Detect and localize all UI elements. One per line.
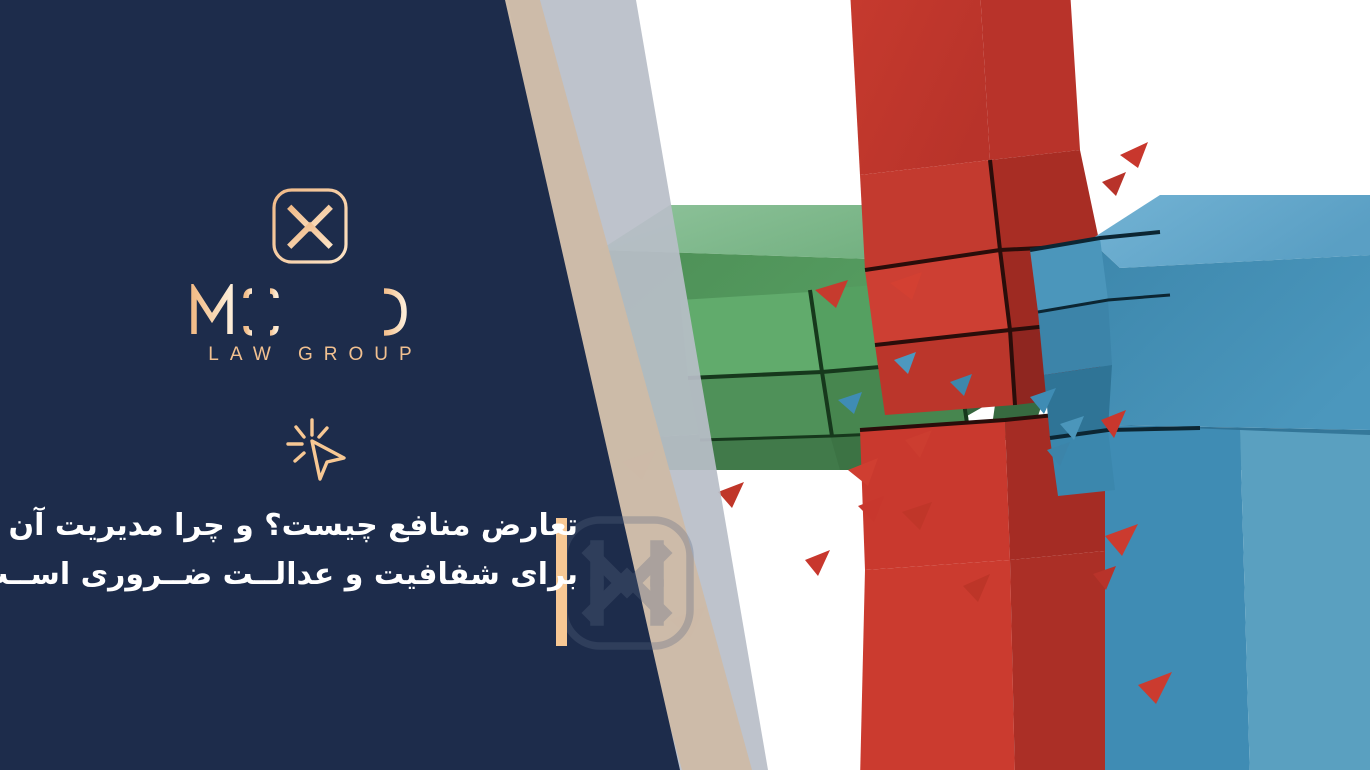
headline-line-2: برای شفافیت و عدالــت ضــروری اســت؟	[80, 551, 578, 600]
headline-line-1: تعارض منافع چیست؟ و چرا مدیریت آن	[80, 502, 578, 551]
brand-wordmark	[0, 284, 620, 338]
click-cursor-icon	[282, 414, 354, 486]
brand-logo-block: LAW GROUP	[0, 186, 620, 366]
left-panel-content: LAW GROUP تعارض منافع چیست؟ و چرا مدیریت…	[0, 0, 640, 770]
moeid-monogram-icon	[270, 186, 350, 266]
brand-tagline: LAW GROUP	[0, 344, 620, 366]
page-title: تعارض منافع چیست؟ و چرا مدیریت آن برای ش…	[80, 502, 578, 599]
poster-canvas: LAW GROUP تعارض منافع چیست؟ و چرا مدیریت…	[0, 0, 1370, 770]
